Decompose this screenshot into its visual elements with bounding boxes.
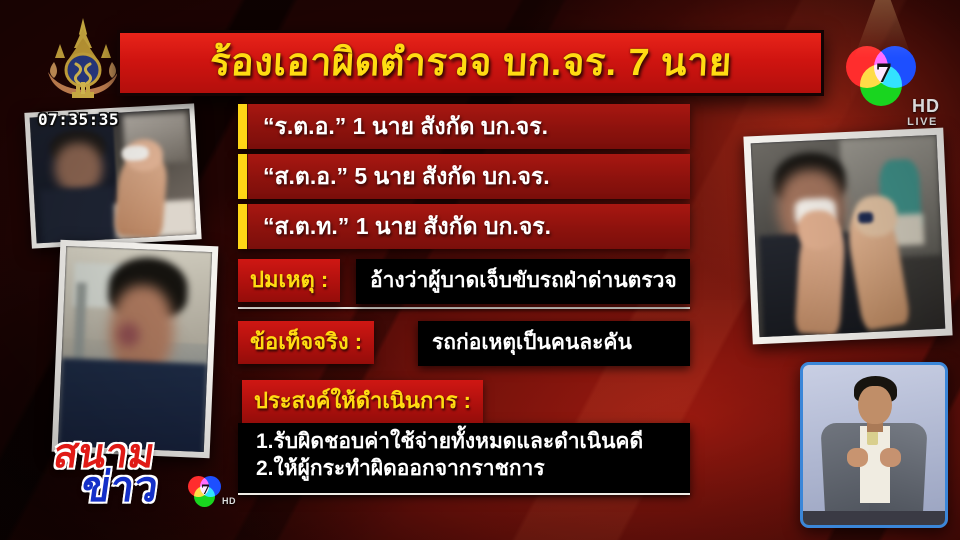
- broadcast-timestamp: 07:35:35: [38, 110, 119, 129]
- list-item: “ร.ต.อ.” 1 นาย สังกัด บก.จร.: [238, 104, 690, 149]
- officer-row-text: “ร.ต.อ.” 1 นาย สังกัด บก.จร.: [247, 109, 690, 145]
- detail-row-cause: ปมเหตุ : อ้างว่าผู้บาดเจ็บขับรถฝ่าด่านตร…: [238, 259, 690, 309]
- accent-bar: [238, 104, 247, 149]
- broadcast-stage: 07:35:35: [0, 0, 960, 540]
- program-logo-line2: ข่าว: [79, 466, 161, 508]
- sign-language-interpreter: [800, 362, 948, 528]
- accent-bar: [238, 154, 247, 199]
- detail-body-cause: อ้างว่าผู้บาดเจ็บขับรถฝ่าด่านตรวจ: [370, 264, 676, 297]
- headline-text: ร้องเอาผิดตำรวจ บก.จร. 7 นาย: [209, 44, 733, 82]
- hd-badge: HD: [912, 96, 940, 117]
- program-logo-channel-badge-icon: 7: [188, 476, 222, 508]
- divider-line-bottom: [238, 493, 690, 495]
- detail-row-fact: ข้อเท็จจริง : รถก่อเหตุเป็นคนละคัน: [238, 321, 690, 366]
- channel-number: 7: [872, 60, 896, 88]
- demand-item: 1.รับผิดชอบค่าใช้จ่ายทั้งหมดและดำเนินคดี: [256, 429, 676, 456]
- list-item: “ส.ต.อ.” 5 นาย สังกัด บก.จร.: [238, 154, 690, 199]
- officer-row-text: “ส.ต.อ.” 5 นาย สังกัด บก.จร.: [247, 159, 690, 195]
- channel-7-logo: 7 HD LIVE: [838, 44, 942, 136]
- detail-body-cause-panel: อ้างว่าผู้บาดเจ็บขับรถฝ่าด่านตรวจ: [356, 259, 690, 304]
- demands-label: ประสงค์ให้ดำเนินการ :: [242, 380, 483, 423]
- accent-bar: [238, 204, 247, 249]
- detail-body-fact: รถก่อเหตุเป็นคนละคัน: [432, 326, 676, 359]
- content-column: “ร.ต.อ.” 1 นาย สังกัด บก.จร. “ส.ต.อ.” 5 …: [238, 104, 690, 495]
- detail-body-fact-panel: รถก่อเหตุเป็นคนละคัน: [418, 321, 690, 366]
- program-logo: สนาม ข่าว 7 HD: [38, 434, 234, 518]
- detail-label-fact: ข้อเท็จจริง :: [238, 321, 374, 364]
- program-logo-hd-badge: HD: [222, 496, 236, 506]
- demands-body-panel: 1.รับผิดชอบค่าใช้จ่ายทั้งหมดและดำเนินคดี…: [238, 423, 690, 493]
- officer-row-text: “ส.ต.ท.” 1 นาย สังกัด บก.จร.: [247, 209, 690, 245]
- headline-banner: ร้องเอาผิดตำรวจ บก.จร. 7 นาย: [117, 30, 824, 96]
- program-logo-channel-number: 7: [199, 483, 212, 498]
- detail-label-cause: ปมเหตุ :: [238, 259, 340, 302]
- list-item: “ส.ต.ท.” 1 นาย สังกัด บก.จร.: [238, 204, 690, 249]
- demands-block: ประสงค์ให้ดำเนินการ : 1.รับผิดชอบค่าใช้จ…: [238, 380, 690, 495]
- channel-7-balls-icon: 7: [846, 44, 918, 106]
- demand-item: 2.ให้ผู้กระทำผิดออกจากราชการ: [256, 456, 676, 483]
- live-badge: LIVE: [907, 116, 938, 128]
- divider-line: [238, 307, 690, 309]
